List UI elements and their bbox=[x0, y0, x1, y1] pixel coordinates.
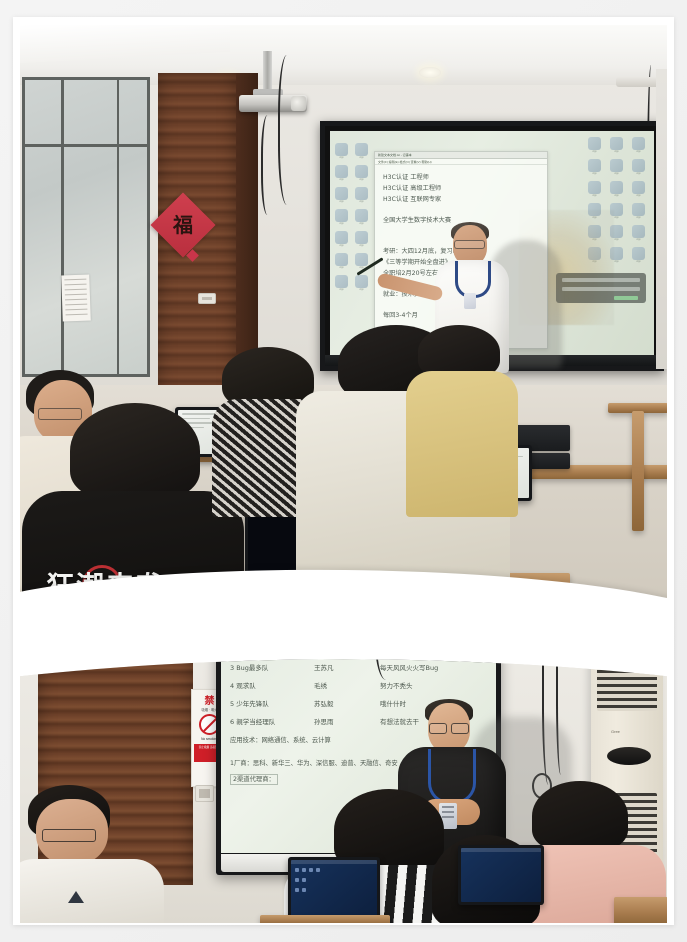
editor-line: H3C认证 互联网专家 bbox=[383, 194, 539, 205]
audience-desk bbox=[260, 915, 390, 923]
row-team-name: 3 Bug最多队 bbox=[230, 664, 314, 672]
row-team-name: 4 观求队 bbox=[230, 682, 314, 690]
student-yellow-shirt bbox=[406, 371, 518, 517]
editor-blank-line bbox=[383, 205, 539, 215]
row-team-name: 6 親学当经理队 bbox=[230, 718, 314, 726]
row-member: 王苏凡 bbox=[314, 664, 380, 672]
student-white-shirt bbox=[20, 859, 164, 923]
desktop-icons-left[interactable]: App App App App App App App App App App … bbox=[334, 143, 371, 294]
desktop-icon[interactable]: App bbox=[587, 159, 602, 178]
row-member: 孙思雨 bbox=[314, 718, 380, 726]
editor-line: H3C认证 工程师 bbox=[383, 172, 539, 183]
desktop-icon[interactable]: App bbox=[631, 137, 646, 156]
whiteboard-row: 4 观求队 毛绣 努力不秃头 bbox=[230, 682, 487, 690]
row-team-name: 5 少年先锋队 bbox=[230, 700, 314, 708]
desktop-icon[interactable]: App bbox=[631, 247, 646, 266]
ac-brand-label: Gree bbox=[611, 729, 620, 734]
desktop-icon[interactable]: App bbox=[631, 225, 646, 244]
audience-monitor-blue[interactable] bbox=[288, 857, 380, 923]
blue-desktop-screen[interactable] bbox=[291, 860, 377, 920]
glasses-icon bbox=[429, 723, 469, 732]
desktop-icon[interactable]: App bbox=[354, 231, 369, 250]
desktop-icon[interactable]: App bbox=[354, 187, 369, 206]
fu-glyph: 福 bbox=[173, 215, 193, 235]
ceiling-cable bbox=[261, 115, 277, 215]
desktop-icon[interactable]: App bbox=[334, 187, 349, 206]
downlight-icon bbox=[419, 67, 441, 78]
wall-outlet bbox=[195, 785, 214, 802]
ceiling-cable bbox=[278, 55, 300, 205]
photo-top: 福 禁 吸烟 · 明火 No smoking 禁止吸烟 违者罚款 bbox=[20, 25, 667, 650]
desktop-icon[interactable]: App bbox=[334, 143, 349, 162]
editor-line: H3C认证 高级工程师 bbox=[383, 183, 539, 194]
row-member: 毛绣 bbox=[314, 682, 380, 690]
row-slogan: 努力不秃头 bbox=[380, 682, 487, 690]
student-right bbox=[406, 325, 526, 515]
desktop-icon[interactable]: App bbox=[609, 181, 624, 200]
notification-popup[interactable] bbox=[556, 273, 646, 303]
desktop-icon[interactable]: App bbox=[354, 143, 369, 162]
desktop-icon[interactable]: App bbox=[631, 159, 646, 178]
dark-screen[interactable] bbox=[461, 848, 541, 902]
desktop-icon[interactable]: App bbox=[587, 137, 602, 156]
ceiling-vent bbox=[616, 77, 660, 87]
desktop-icon[interactable]: App bbox=[334, 209, 349, 228]
audience-desk bbox=[614, 897, 667, 923]
audience-student-left bbox=[20, 785, 160, 923]
desktop-icon[interactable]: App bbox=[354, 275, 369, 294]
audience-monitor-dark[interactable] bbox=[458, 845, 544, 905]
desktop-icon[interactable]: App bbox=[609, 137, 624, 156]
side-table-leg bbox=[632, 411, 644, 531]
row-member: 苏弘毅 bbox=[314, 700, 380, 708]
ac-display-panel bbox=[607, 747, 651, 765]
glasses-icon bbox=[454, 240, 485, 249]
desktop-icon[interactable]: App bbox=[334, 231, 349, 250]
wall-notice-paper bbox=[61, 275, 91, 322]
desktop-icon[interactable]: App bbox=[609, 159, 624, 178]
student-hair bbox=[70, 403, 200, 499]
projector-mount bbox=[263, 51, 272, 93]
wall-outlet bbox=[198, 293, 216, 304]
desktop-icon[interactable]: App bbox=[631, 203, 646, 222]
right-wall bbox=[656, 69, 667, 369]
desktop-icon[interactable]: App bbox=[587, 181, 602, 200]
whiteboard-row: 3 Bug最多队 王苏凡 每天风风火火写Bug bbox=[230, 664, 487, 672]
whiteboard-note: 2渠道代理商： bbox=[230, 774, 278, 785]
collage-page: 福 禁 吸烟 · 明火 No smoking 禁止吸烟 违者罚款 bbox=[0, 0, 687, 942]
id-badge bbox=[464, 293, 476, 309]
desktop-icon[interactable]: App bbox=[334, 165, 349, 184]
desktop-icon[interactable]: App bbox=[334, 275, 349, 294]
desktop-icon[interactable]: App bbox=[631, 181, 646, 200]
desktop-icon[interactable]: App bbox=[334, 253, 349, 272]
desktop-icon[interactable]: App bbox=[354, 209, 369, 228]
glass-partition bbox=[22, 77, 150, 377]
window-titlebar[interactable]: 新建文本文档.txt - 记事本 bbox=[375, 152, 547, 159]
photo-collage: 福 禁 吸烟 · 明火 No smoking 禁止吸烟 违者罚款 bbox=[20, 25, 667, 923]
glasses-icon bbox=[42, 829, 96, 842]
desktop-icon[interactable]: App bbox=[354, 165, 369, 184]
